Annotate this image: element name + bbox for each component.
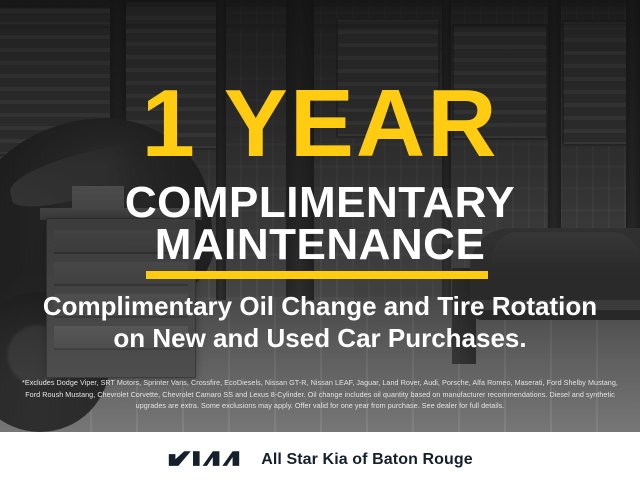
subheadline-line-one: Complimentary Oil Change and Tire Rotati…	[0, 290, 640, 322]
yellow-divider-rule	[146, 271, 488, 279]
subheadline-line-two: on New and Used Car Purchases.	[0, 322, 640, 354]
hero-section: 1 YEAR COMPLIMENTARY MAINTENANCE Complim…	[0, 0, 640, 432]
dealer-name: All Star Kia of Baton Rouge	[261, 451, 473, 469]
footer-bar: All Star Kia of Baton Rouge	[0, 432, 640, 488]
promo-ad-banner: 1 YEAR COMPLIMENTARY MAINTENANCE Complim…	[0, 0, 640, 488]
headline-year: 1 YEAR	[0, 78, 640, 170]
headline-group: 1 YEAR COMPLIMENTARY MAINTENANCE Complim…	[0, 0, 640, 432]
headline-line-three: MAINTENANCE	[0, 222, 640, 268]
disclaimer-text: *Excludes Dodge Viper, SRT Motors, Sprin…	[16, 377, 624, 412]
kia-logo-icon	[167, 449, 241, 471]
